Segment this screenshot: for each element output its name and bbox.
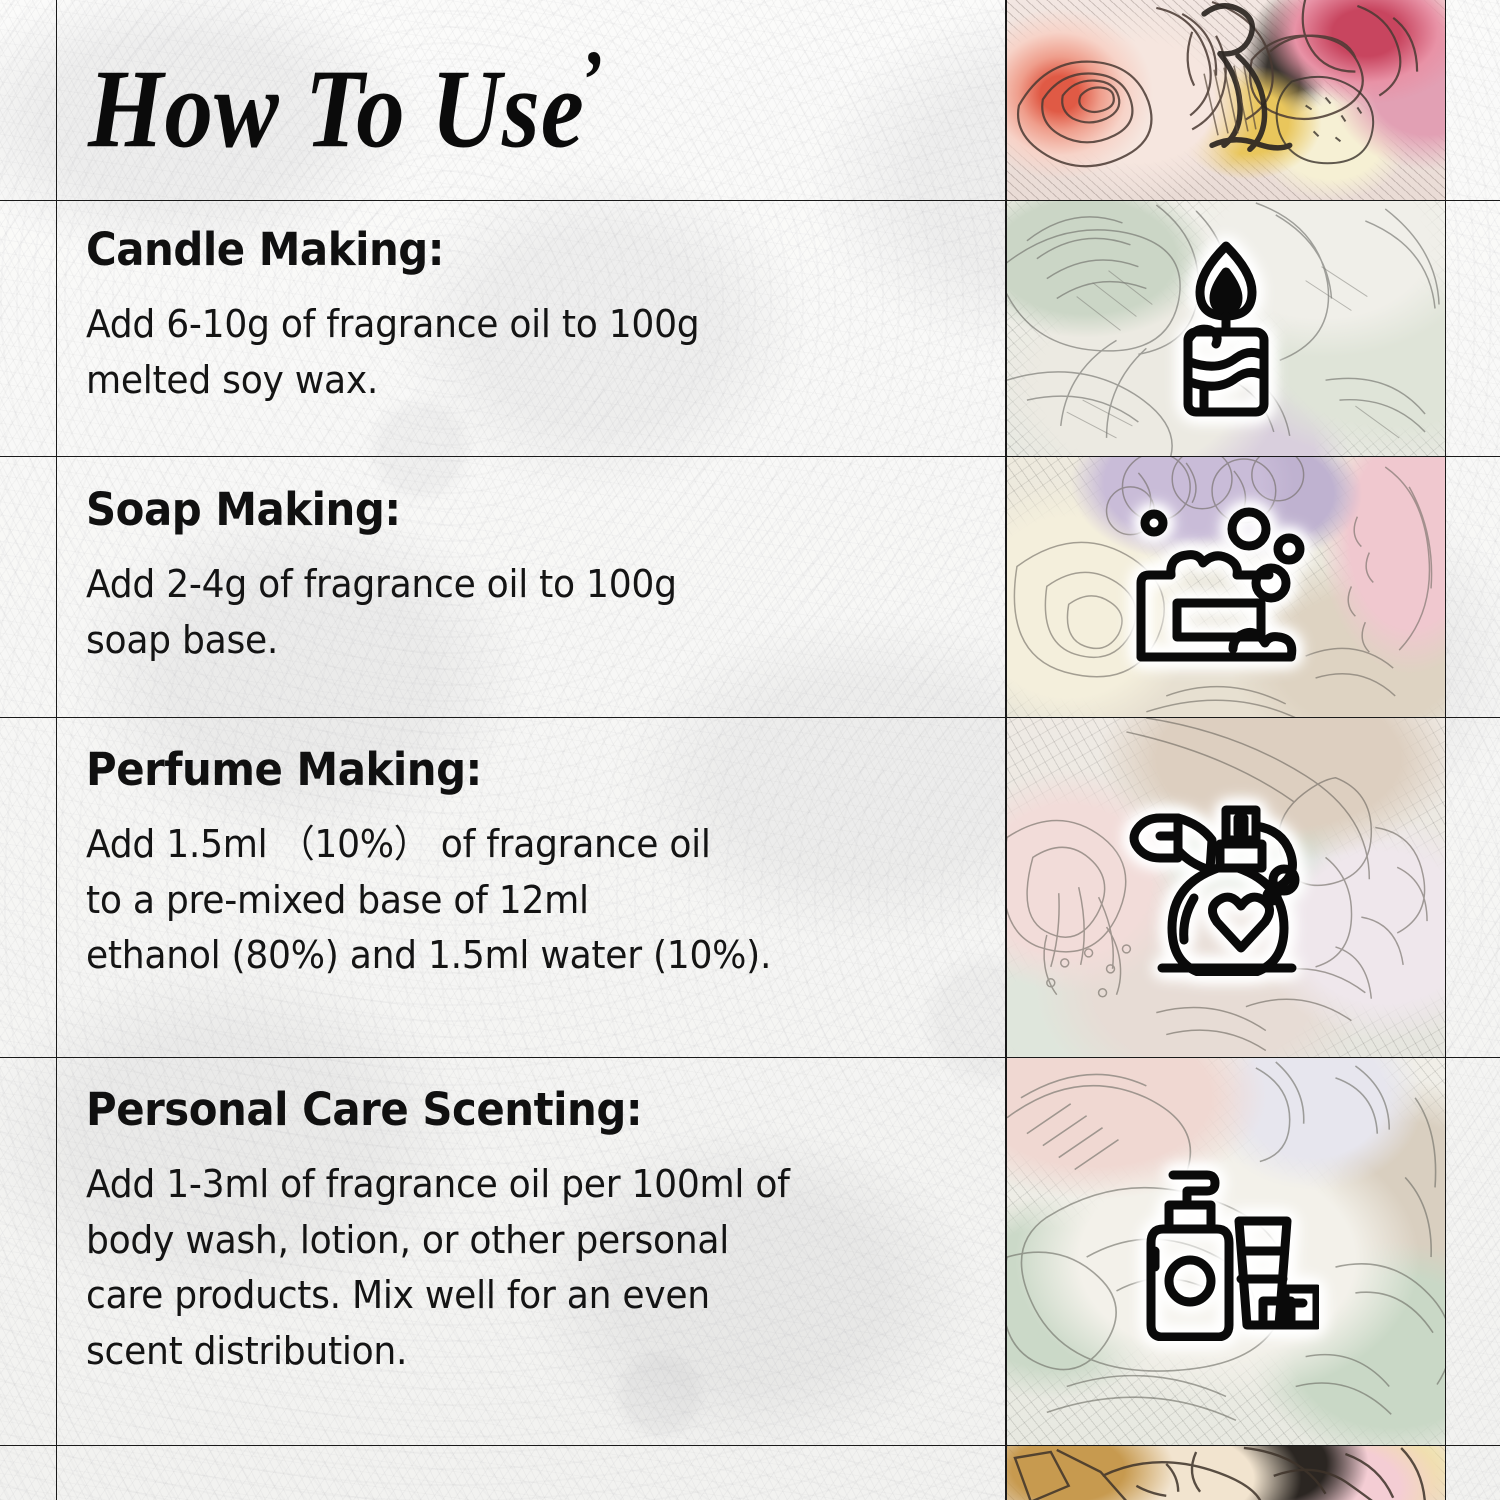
lotion-bottle-icon xyxy=(1133,1163,1319,1341)
section-soap-making: Soap Making: Add 2-4g of fragrance oil t… xyxy=(86,486,708,668)
body-line: Add 1.5ml （10%） of fragrance oil xyxy=(86,817,771,872)
candle-panel xyxy=(1006,200,1446,457)
page-title: How To Use’ xyxy=(88,38,604,165)
candle-icon xyxy=(1163,236,1289,422)
perfume-bottle-icon xyxy=(1126,800,1326,976)
body-line: soap base. xyxy=(86,613,677,668)
bottom-photo xyxy=(1006,1445,1446,1500)
section-body: Add 1.5ml （10%） of fragrance oil to a pr… xyxy=(86,817,771,983)
section-body: Add 1-3ml of fragrance oil per 100ml of … xyxy=(86,1157,790,1379)
perfume-panel xyxy=(1006,717,1446,1058)
body-line: Add 6-10g of fragrance oil to 100g xyxy=(86,297,699,352)
page-title-flourish: ’ xyxy=(579,33,604,126)
page-title-text: How To Use xyxy=(88,47,585,171)
body-line: body wash, lotion, or other personal xyxy=(86,1213,790,1268)
soap-icon-wrapper xyxy=(1007,457,1445,717)
section-candle-making: Candle Making: Add 6-10g of fragrance oi… xyxy=(86,226,732,408)
perfume-icon-wrapper xyxy=(1007,718,1445,1057)
body-line: ethanol (80%) and 1.5ml water (10%). xyxy=(86,928,771,983)
candle-icon-wrapper xyxy=(1007,201,1445,456)
section-personal-care-scenting: Personal Care Scenting: Add 1-3ml of fra… xyxy=(86,1086,827,1379)
section-perfume-making: Perfume Making: Add 1.5ml （10%） of fragr… xyxy=(86,746,807,984)
panel-gap-strip xyxy=(1006,1380,1446,1445)
section-heading: Personal Care Scenting: xyxy=(86,1086,775,1133)
section-heading: Soap Making: xyxy=(86,486,664,533)
bottom-line-art xyxy=(1007,1446,1445,1500)
body-line: scent distribution. xyxy=(86,1324,790,1379)
roses-and-soap-photo xyxy=(1006,0,1446,201)
section-heading: Perfume Making: xyxy=(86,746,757,793)
how-to-use-infographic: How To Use’ Candle Making: Add 6-10g of … xyxy=(0,0,1500,1500)
soap-panel xyxy=(1006,456,1446,718)
body-line: care products. Mix well for an even xyxy=(86,1268,790,1323)
body-line: to a pre-mixed base of 12ml xyxy=(86,873,771,928)
body-line: Add 1-3ml of fragrance oil per 100ml of xyxy=(86,1157,790,1212)
section-heading: Candle Making: xyxy=(86,226,686,273)
soap-bar-icon xyxy=(1131,507,1321,667)
body-line: melted soy wax. xyxy=(86,353,699,408)
roses-line-art xyxy=(1007,0,1445,200)
body-line: Add 2-4g of fragrance oil to 100g xyxy=(86,557,677,612)
section-body: Add 2-4g of fragrance oil to 100g soap b… xyxy=(86,557,677,668)
section-body: Add 6-10g of fragrance oil to 100g melte… xyxy=(86,297,699,408)
left-margin-rule xyxy=(56,0,57,1500)
